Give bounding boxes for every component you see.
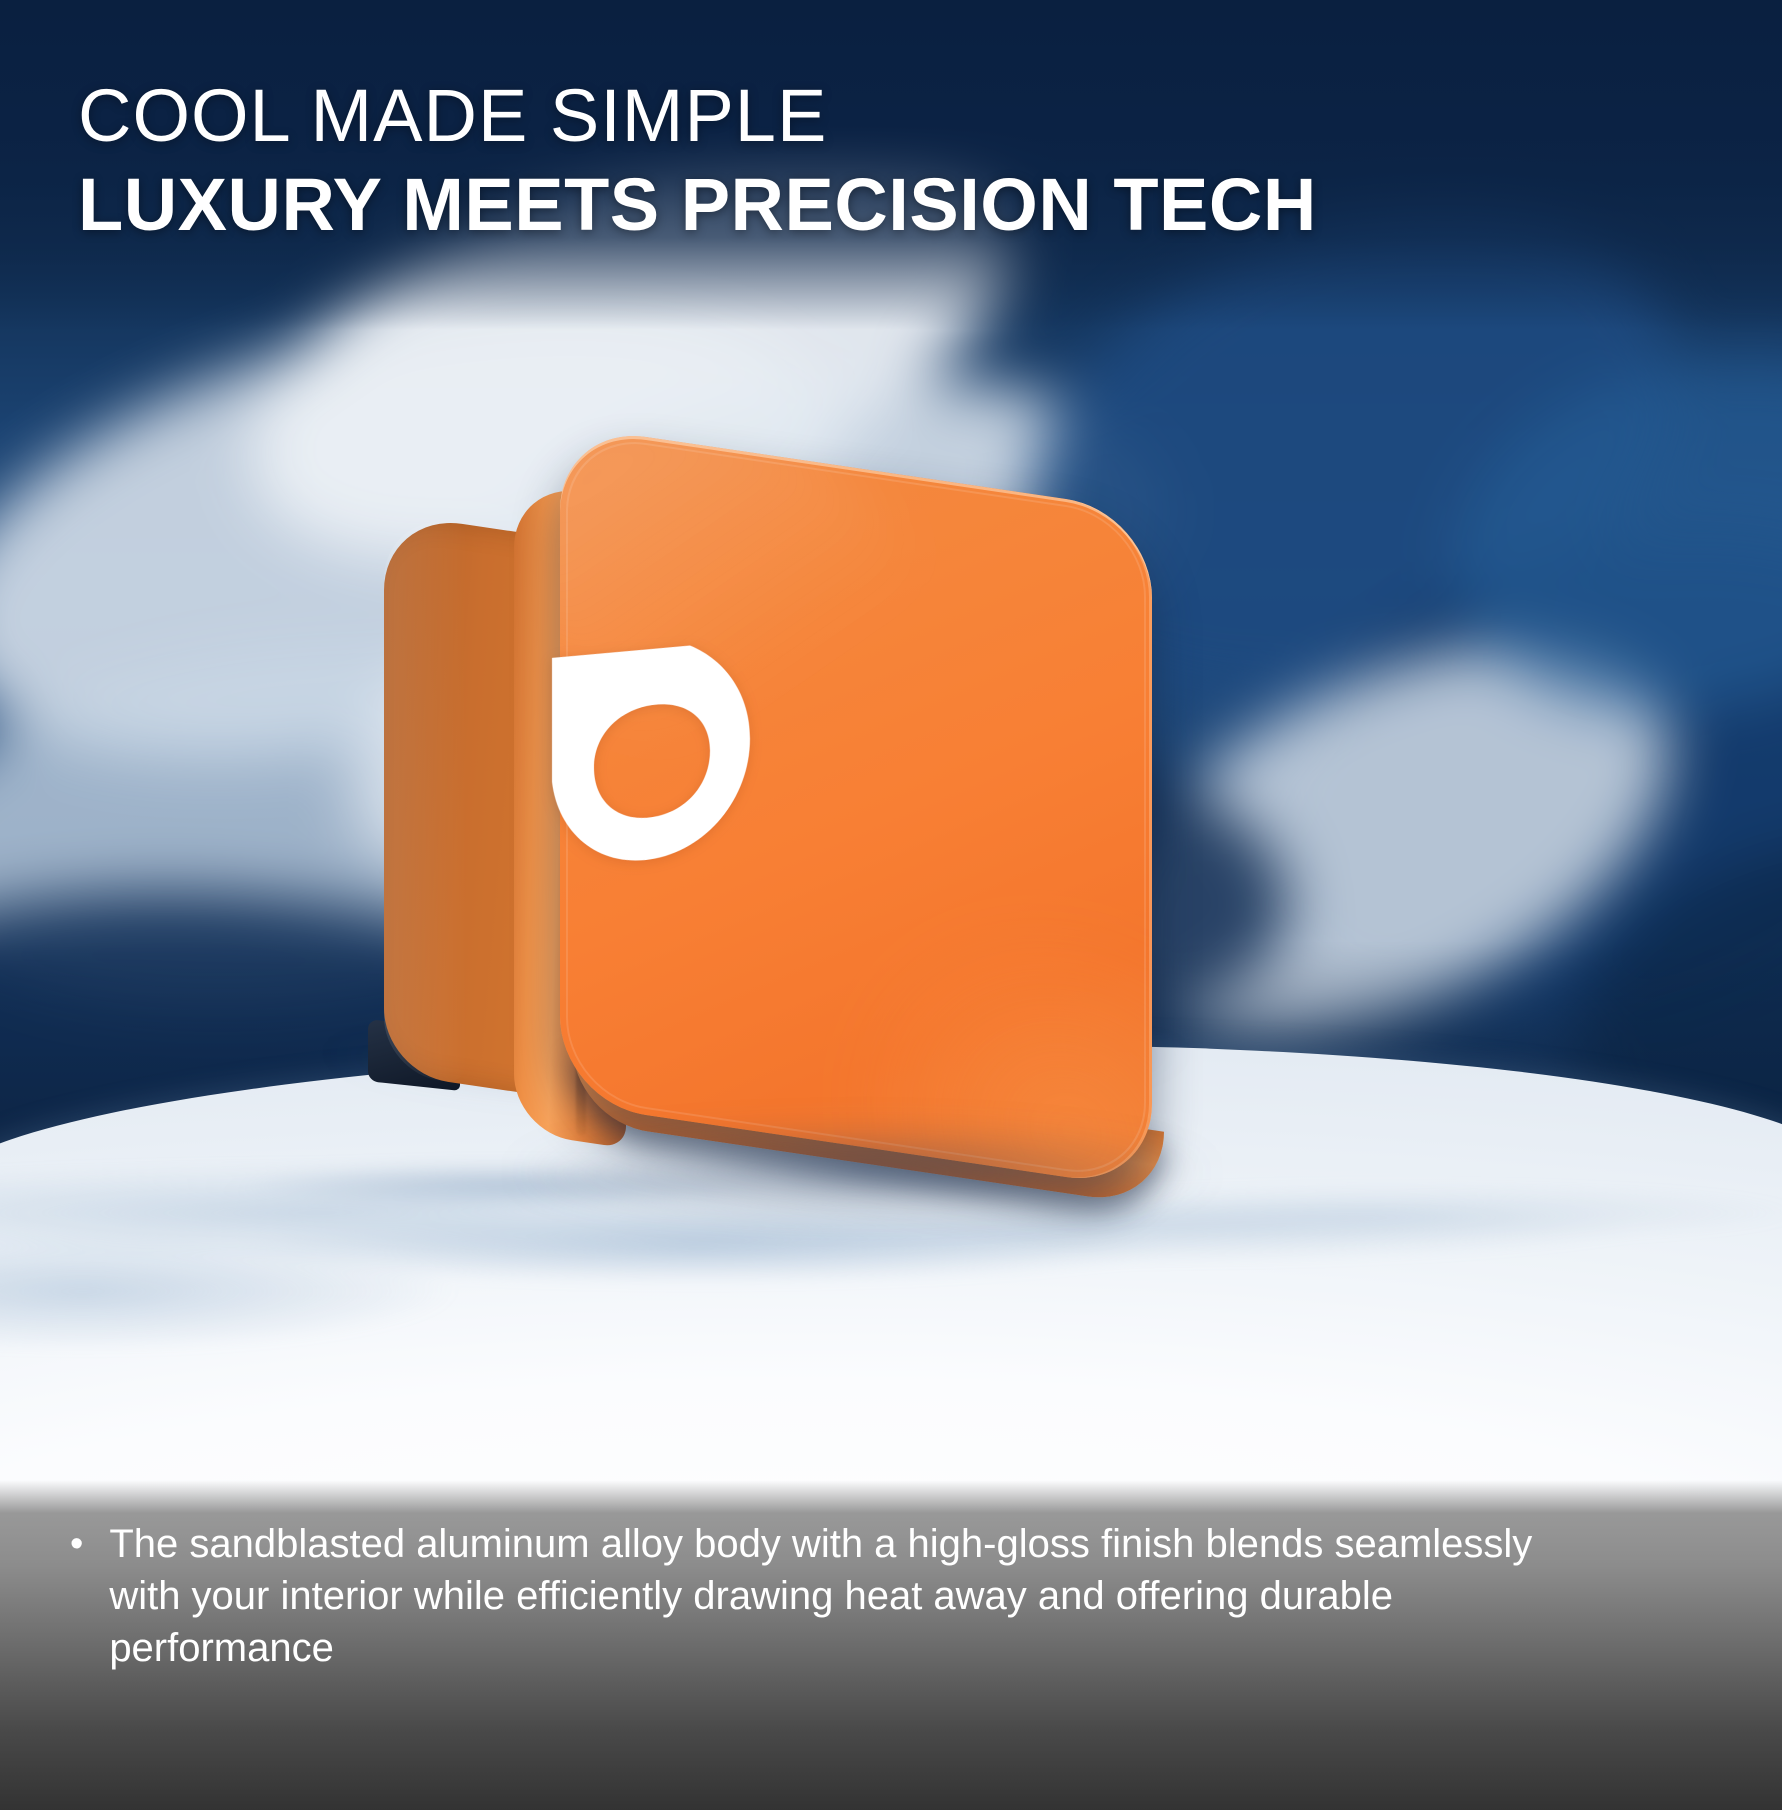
droplet-logo-icon bbox=[540, 622, 752, 885]
product-device bbox=[362, 452, 1162, 1142]
caption-text: The sandblasted aluminum alloy body with… bbox=[109, 1518, 1532, 1674]
headline-block: COOL MADE SIMPLE LUXURY MEETS PRECISION … bbox=[78, 78, 1578, 243]
caption-block: • The sandblasted aluminum alloy body wi… bbox=[70, 1518, 1742, 1674]
device-contact-shadow bbox=[512, 1128, 1212, 1216]
bullet-marker: • bbox=[70, 1518, 83, 1674]
headline-main: LUXURY MEETS PRECISION TECH bbox=[78, 167, 1578, 242]
caption-line: The sandblasted aluminum alloy body with… bbox=[109, 1518, 1532, 1570]
caption-band: • The sandblasted aluminum alloy body wi… bbox=[0, 1480, 1782, 1810]
caption-line: with your interior while efficiently dra… bbox=[109, 1570, 1532, 1622]
headline-eyebrow: COOL MADE SIMPLE bbox=[78, 78, 1578, 153]
caption-line: performance bbox=[109, 1622, 1532, 1674]
product-poster: COOL MADE SIMPLE LUXURY MEETS PRECISION … bbox=[0, 0, 1782, 1810]
